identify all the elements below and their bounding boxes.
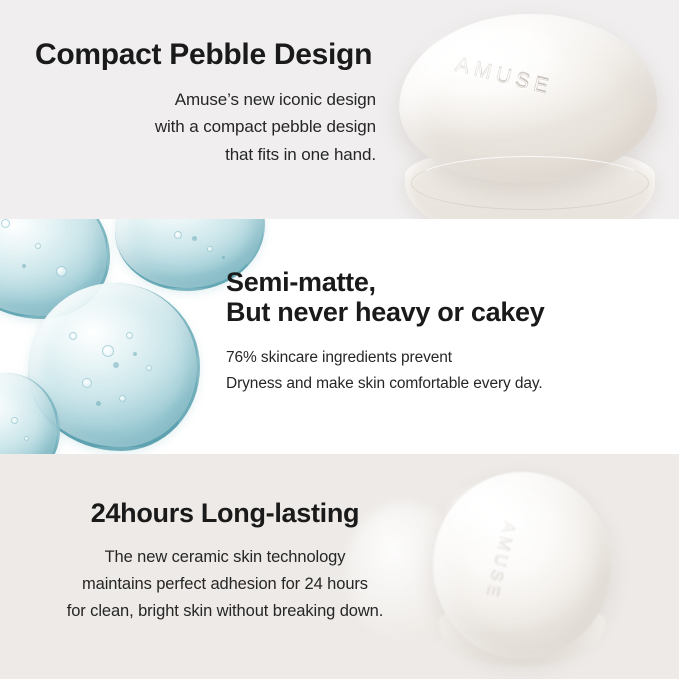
gel-droplets-artwork bbox=[0, 219, 230, 454]
body-line: for clean, bright skin without breaking … bbox=[0, 598, 450, 625]
body-line: with a compact pebble design bbox=[0, 113, 376, 141]
compact-lid: AMUSE bbox=[433, 472, 611, 658]
panel-1-heading: Compact Pebble Design bbox=[0, 38, 400, 72]
panel-3-heading: 24hours Long-lasting bbox=[0, 498, 450, 528]
product-detail-page: AMUSE Compact Pebble Design Amuse’s new … bbox=[0, 0, 679, 679]
panel-1-copy: Compact Pebble Design Amuse’s new iconic… bbox=[0, 0, 400, 168]
body-line: maintains perfect adhesion for 24 hours bbox=[0, 571, 450, 598]
panel-2-heading: Semi-matte, But never heavy or cakey bbox=[226, 267, 666, 327]
body-line: 76% skincare ingredients prevent bbox=[226, 345, 666, 370]
body-line: that fits in one hand. bbox=[0, 141, 376, 169]
panel-3-copy: 24hours Long-lasting The new ceramic ski… bbox=[0, 498, 450, 624]
panel-24hours-long-lasting: AMUSE 24hours Long-lasting The new ceram… bbox=[0, 454, 679, 679]
panel-3-body: The new ceramic skin technology maintain… bbox=[0, 544, 450, 624]
panel-2-copy: Semi-matte, But never heavy or cakey 76%… bbox=[226, 267, 666, 396]
panel-semi-matte: Semi-matte, But never heavy or cakey 76%… bbox=[0, 219, 679, 454]
body-line: The new ceramic skin technology bbox=[0, 544, 450, 571]
panel-1-body: Amuse’s new iconic design with a compact… bbox=[0, 86, 679, 169]
body-line: Amuse’s new iconic design bbox=[0, 86, 376, 114]
amuse-logo-emboss: AMUSE bbox=[480, 519, 519, 602]
panel-compact-pebble-design: AMUSE Compact Pebble Design Amuse’s new … bbox=[0, 0, 679, 219]
panel-2-body: 76% skincare ingredients prevent Dryness… bbox=[226, 345, 666, 395]
heading-line: But never heavy or cakey bbox=[226, 297, 666, 327]
heading-line: Semi-matte, bbox=[226, 267, 666, 297]
body-line: Dryness and make skin comfortable every … bbox=[226, 371, 666, 396]
